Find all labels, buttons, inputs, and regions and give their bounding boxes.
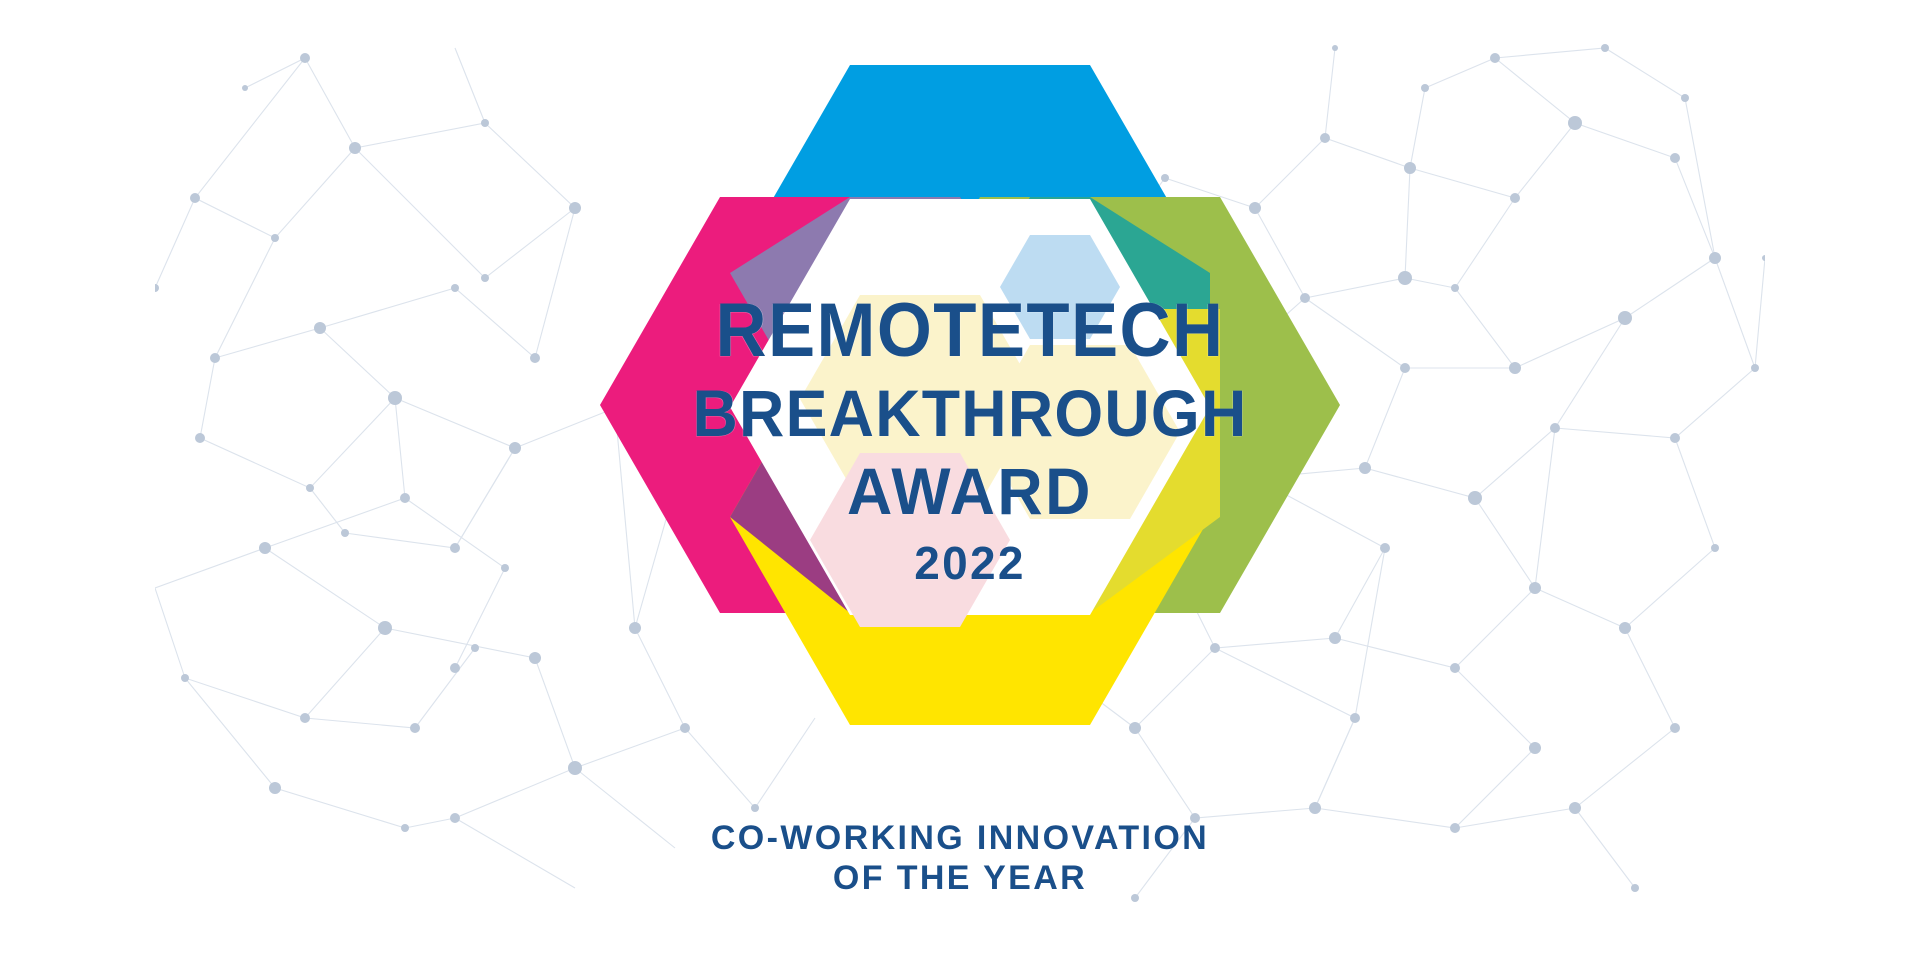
award-caption: CO-WORKING INNOVATION OF THE YEAR: [0, 818, 1920, 898]
award-badge-image: REMOTETECH BREAKTHROUGH AWARD 2022 CO-WO…: [0, 0, 1920, 960]
award-caption-line-1: CO-WORKING INNOVATION: [0, 818, 1920, 858]
award-caption-line-2: OF THE YEAR: [0, 858, 1920, 898]
badge-hexagon-cluster: [560, 55, 1380, 735]
badge-svg: [560, 55, 1380, 735]
